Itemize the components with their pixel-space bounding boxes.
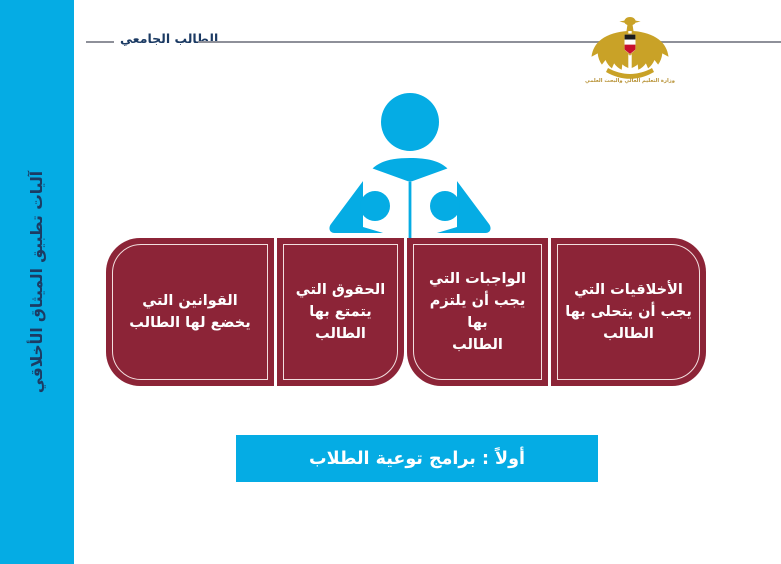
box-ethics-label: الأخلاقيات التييجب أن يتحلى بهاالطالب xyxy=(561,279,696,345)
box-ethics[interactable]: الأخلاقيات التييجب أن يتحلى بهاالطالب xyxy=(551,238,706,386)
egypt-flag-shield xyxy=(624,34,636,55)
box-ethics-inner: الأخلاقيات التييجب أن يتحلى بهاالطالب xyxy=(557,244,700,380)
egypt-eagle-icon xyxy=(570,12,690,82)
left-sidebar: آليات تطبيق الميثاق الأخلاقي xyxy=(0,0,74,564)
sidebar-vertical-title: آليات تطبيق الميثاق الأخلاقي xyxy=(28,171,46,393)
box-rights[interactable]: الحقوق التييتمتع بها الطالب xyxy=(277,238,404,386)
box-rights-inner: الحقوق التييتمتع بها الطالب xyxy=(283,244,398,380)
box-laws[interactable]: القوانين التييخضع لها الطالب xyxy=(106,238,274,386)
header-title: الطالب الجامعي xyxy=(120,31,218,46)
concept-boxes-row: القوانين التييخضع لها الطالب الحقوق التي… xyxy=(106,238,706,386)
box-duties-label: الواجبات التييجب أن يلتزم بهاالطالب xyxy=(414,268,541,356)
box-laws-label: القوانين التييخضع لها الطالب xyxy=(125,290,254,334)
header-rule-right xyxy=(198,41,781,43)
box-duties-inner: الواجبات التييجب أن يلتزم بهاالطالب xyxy=(413,244,542,380)
bottom-banner-label: أولاً : برامج توعية الطلاب xyxy=(309,449,525,469)
bottom-banner[interactable]: أولاً : برامج توعية الطلاب xyxy=(236,435,598,482)
ministry-emblem: وزارة التعليم العالي والبحث العلمي xyxy=(570,12,690,94)
student-reading-book-icon xyxy=(327,86,493,251)
box-duties[interactable]: الواجبات التييجب أن يلتزم بهاالطالب xyxy=(407,238,548,386)
slide-canvas: آليات تطبيق الميثاق الأخلاقي الطالب الجا… xyxy=(0,0,781,564)
box-rights-label: الحقوق التييتمتع بها الطالب xyxy=(284,279,397,345)
box-laws-inner: القوانين التييخضع لها الطالب xyxy=(112,244,268,380)
header-rule-left xyxy=(86,41,114,43)
emblem-caption: وزارة التعليم العالي والبحث العلمي xyxy=(570,78,690,84)
